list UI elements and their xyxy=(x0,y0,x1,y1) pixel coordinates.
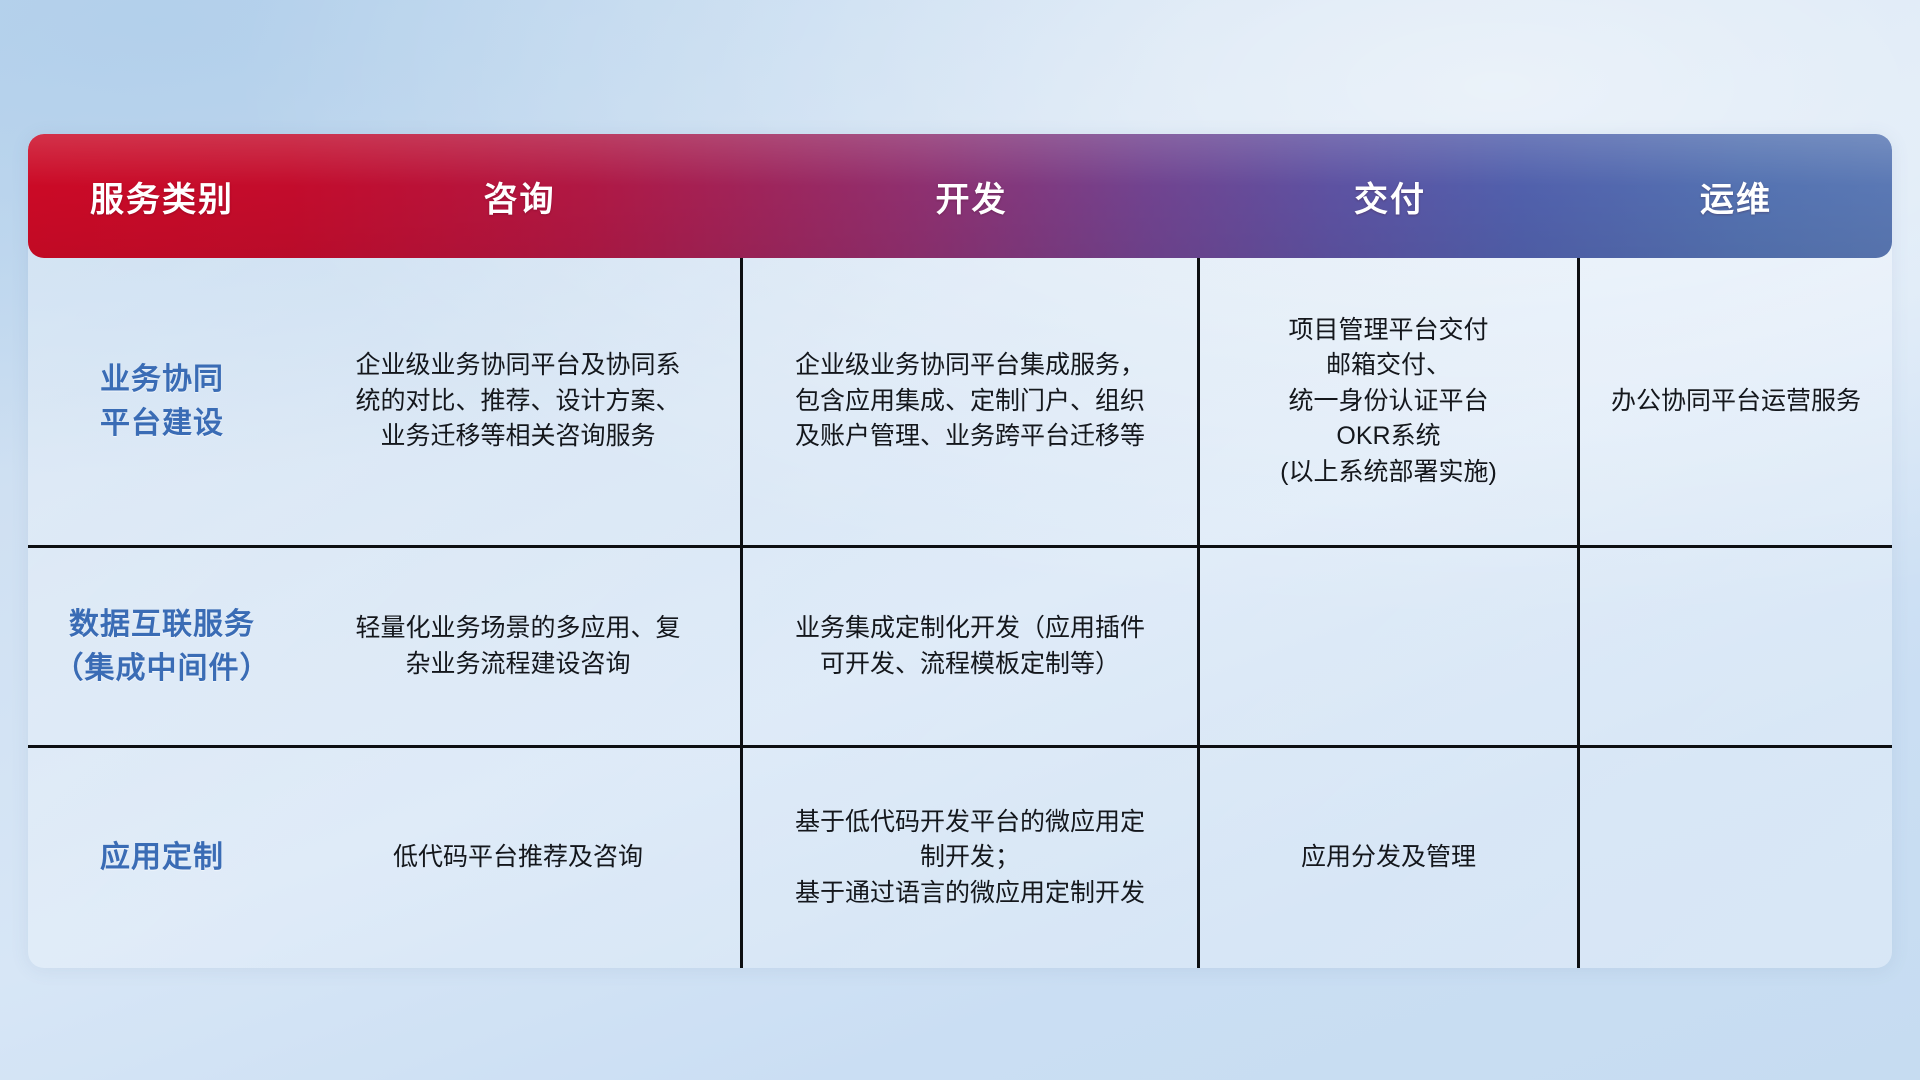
cell-delivery: 应用分发及管理 xyxy=(1200,748,1580,968)
cell-delivery xyxy=(1200,548,1580,745)
table-body: 业务协同 平台建设 企业级业务协同平台及协同系 统的对比、推荐、设计方案、 业务… xyxy=(28,258,1892,968)
table-row: 数据互联服务 （集成中间件） 轻量化业务场景的多应用、复 杂业务流程建设咨询 业… xyxy=(28,548,1892,748)
cell-operations xyxy=(1580,548,1892,745)
table-row: 业务协同 平台建设 企业级业务协同平台及协同系 统的对比、推荐、设计方案、 业务… xyxy=(28,258,1892,548)
cell-consulting: 企业级业务协同平台及协同系 统的对比、推荐、设计方案、 业务迁移等相关咨询服务 xyxy=(296,258,743,545)
column-header-consulting: 咨询 xyxy=(296,172,743,221)
table-header-row: 服务类别 咨询 开发 交付 运维 xyxy=(28,134,1892,258)
row-category-label: 数据互联服务 （集成中间件） xyxy=(28,548,296,745)
column-header-operations: 运维 xyxy=(1580,172,1892,221)
cell-operations xyxy=(1580,748,1892,968)
cell-consulting: 低代码平台推荐及咨询 xyxy=(296,748,743,968)
cell-development: 基于低代码开发平台的微应用定 制开发； 基于通过语言的微应用定制开发 xyxy=(743,748,1200,968)
service-matrix-table: 服务类别 咨询 开发 交付 运维 业务协同 平台建设 企业级业务协同平台及协同系… xyxy=(28,134,1892,968)
column-header-service-category: 服务类别 xyxy=(28,172,296,221)
column-header-delivery: 交付 xyxy=(1200,172,1580,221)
row-category-label: 业务协同 平台建设 xyxy=(28,258,296,545)
cell-development: 企业级业务协同平台集成服务， 包含应用集成、定制门户、组织 及账户管理、业务跨平… xyxy=(743,258,1200,545)
cell-operations: 办公协同平台运营服务 xyxy=(1580,258,1892,545)
slide-canvas: 服务类别 咨询 开发 交付 运维 业务协同 平台建设 企业级业务协同平台及协同系… xyxy=(0,0,1920,1080)
table-row: 应用定制 低代码平台推荐及咨询 基于低代码开发平台的微应用定 制开发； 基于通过… xyxy=(28,748,1892,968)
cell-delivery: 项目管理平台交付 邮箱交付、 统一身份认证平台 OKR系统 (以上系统部署实施) xyxy=(1200,258,1580,545)
cell-consulting: 轻量化业务场景的多应用、复 杂业务流程建设咨询 xyxy=(296,548,743,745)
row-category-label: 应用定制 xyxy=(28,748,296,968)
column-header-development: 开发 xyxy=(743,172,1200,221)
cell-development: 业务集成定制化开发（应用插件 可开发、流程模板定制等） xyxy=(743,548,1200,745)
